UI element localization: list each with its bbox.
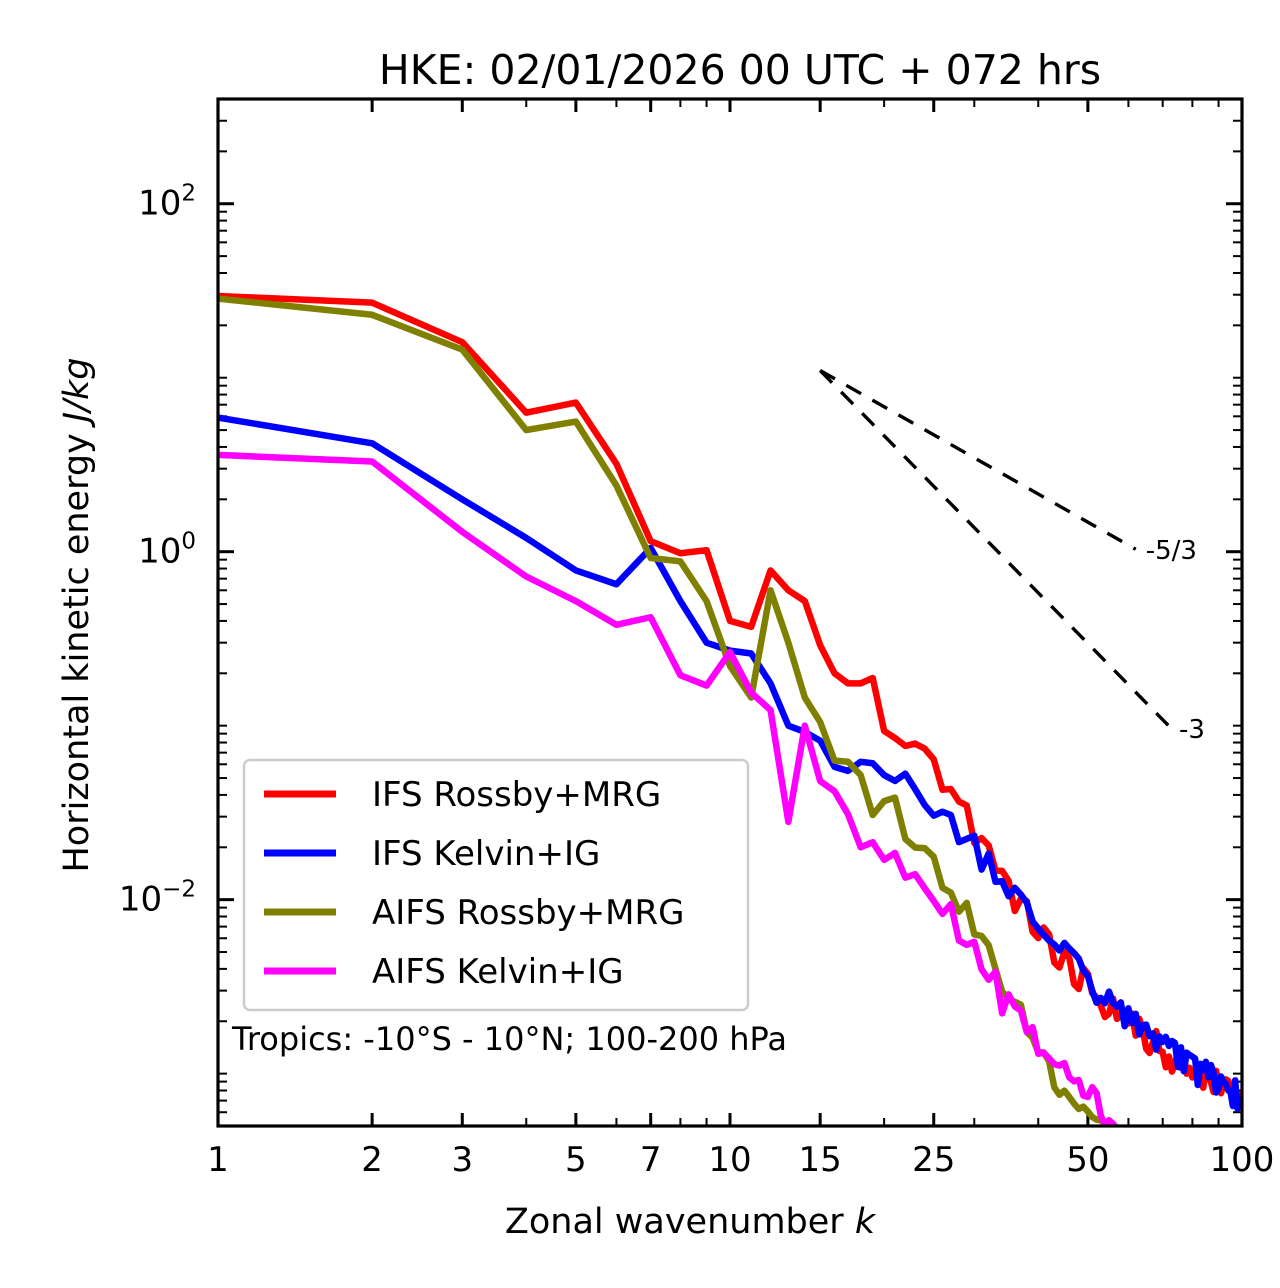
legend-label[interactable]: AIFS Rossby+MRG <box>372 893 684 933</box>
x-tick-label: 25 <box>912 1140 955 1180</box>
svg-text:Horizontal kinetic energy J/kg: Horizontal kinetic energy J/kg <box>57 357 97 872</box>
x-tick-label: 15 <box>799 1140 842 1180</box>
x-tick-label: 1 <box>207 1140 229 1180</box>
y-axis-label-text: Horizontal kinetic energy <box>57 433 97 872</box>
svg-text:Zonal wavenumber k: Zonal wavenumber k <box>505 1202 877 1242</box>
figure-canvas: HKE: 02/01/2026 00 UTC + 072 hrs 1235710… <box>0 0 1280 1288</box>
x-tick-label: 5 <box>565 1140 587 1180</box>
slope-label-53: -5/3 <box>1146 536 1197 566</box>
x-axis-label-symbol: k <box>855 1202 877 1242</box>
x-axis-label: Zonal wavenumber k <box>505 1202 877 1242</box>
x-axis-label-text: Zonal wavenumber <box>505 1202 844 1242</box>
x-tick-label: 3 <box>451 1140 473 1180</box>
legend-label[interactable]: IFS Rossby+MRG <box>372 775 661 815</box>
hke-spectrum-chart: HKE: 02/01/2026 00 UTC + 072 hrs 1235710… <box>0 0 1280 1288</box>
chart-legend[interactable]: IFS Rossby+MRGIFS Kelvin+IGAIFS Rossby+M… <box>244 760 748 1010</box>
y-tick-label: 102 <box>138 181 196 224</box>
y-axis-label-units: J/kg <box>57 357 97 428</box>
y-axis-label: Horizontal kinetic energy J/kg <box>57 357 97 872</box>
y-tick-label: 10−2 <box>119 877 196 920</box>
legend-label[interactable]: AIFS Kelvin+IG <box>372 952 624 992</box>
x-tick-label: 7 <box>640 1140 662 1180</box>
x-tick-label: 100 <box>1210 1140 1275 1180</box>
x-tick-label: 50 <box>1066 1140 1109 1180</box>
x-tick-label: 2 <box>361 1140 383 1180</box>
slope-label-3: -3 <box>1179 715 1205 745</box>
y-tick-label: 100 <box>138 529 196 572</box>
region-annotation: Tropics: -10°S - 10°N; 100-200 hPa <box>231 1020 787 1058</box>
legend-label[interactable]: IFS Kelvin+IG <box>372 834 600 874</box>
chart-title: HKE: 02/01/2026 00 UTC + 072 hrs <box>379 46 1101 94</box>
x-tick-label: 10 <box>708 1140 751 1180</box>
